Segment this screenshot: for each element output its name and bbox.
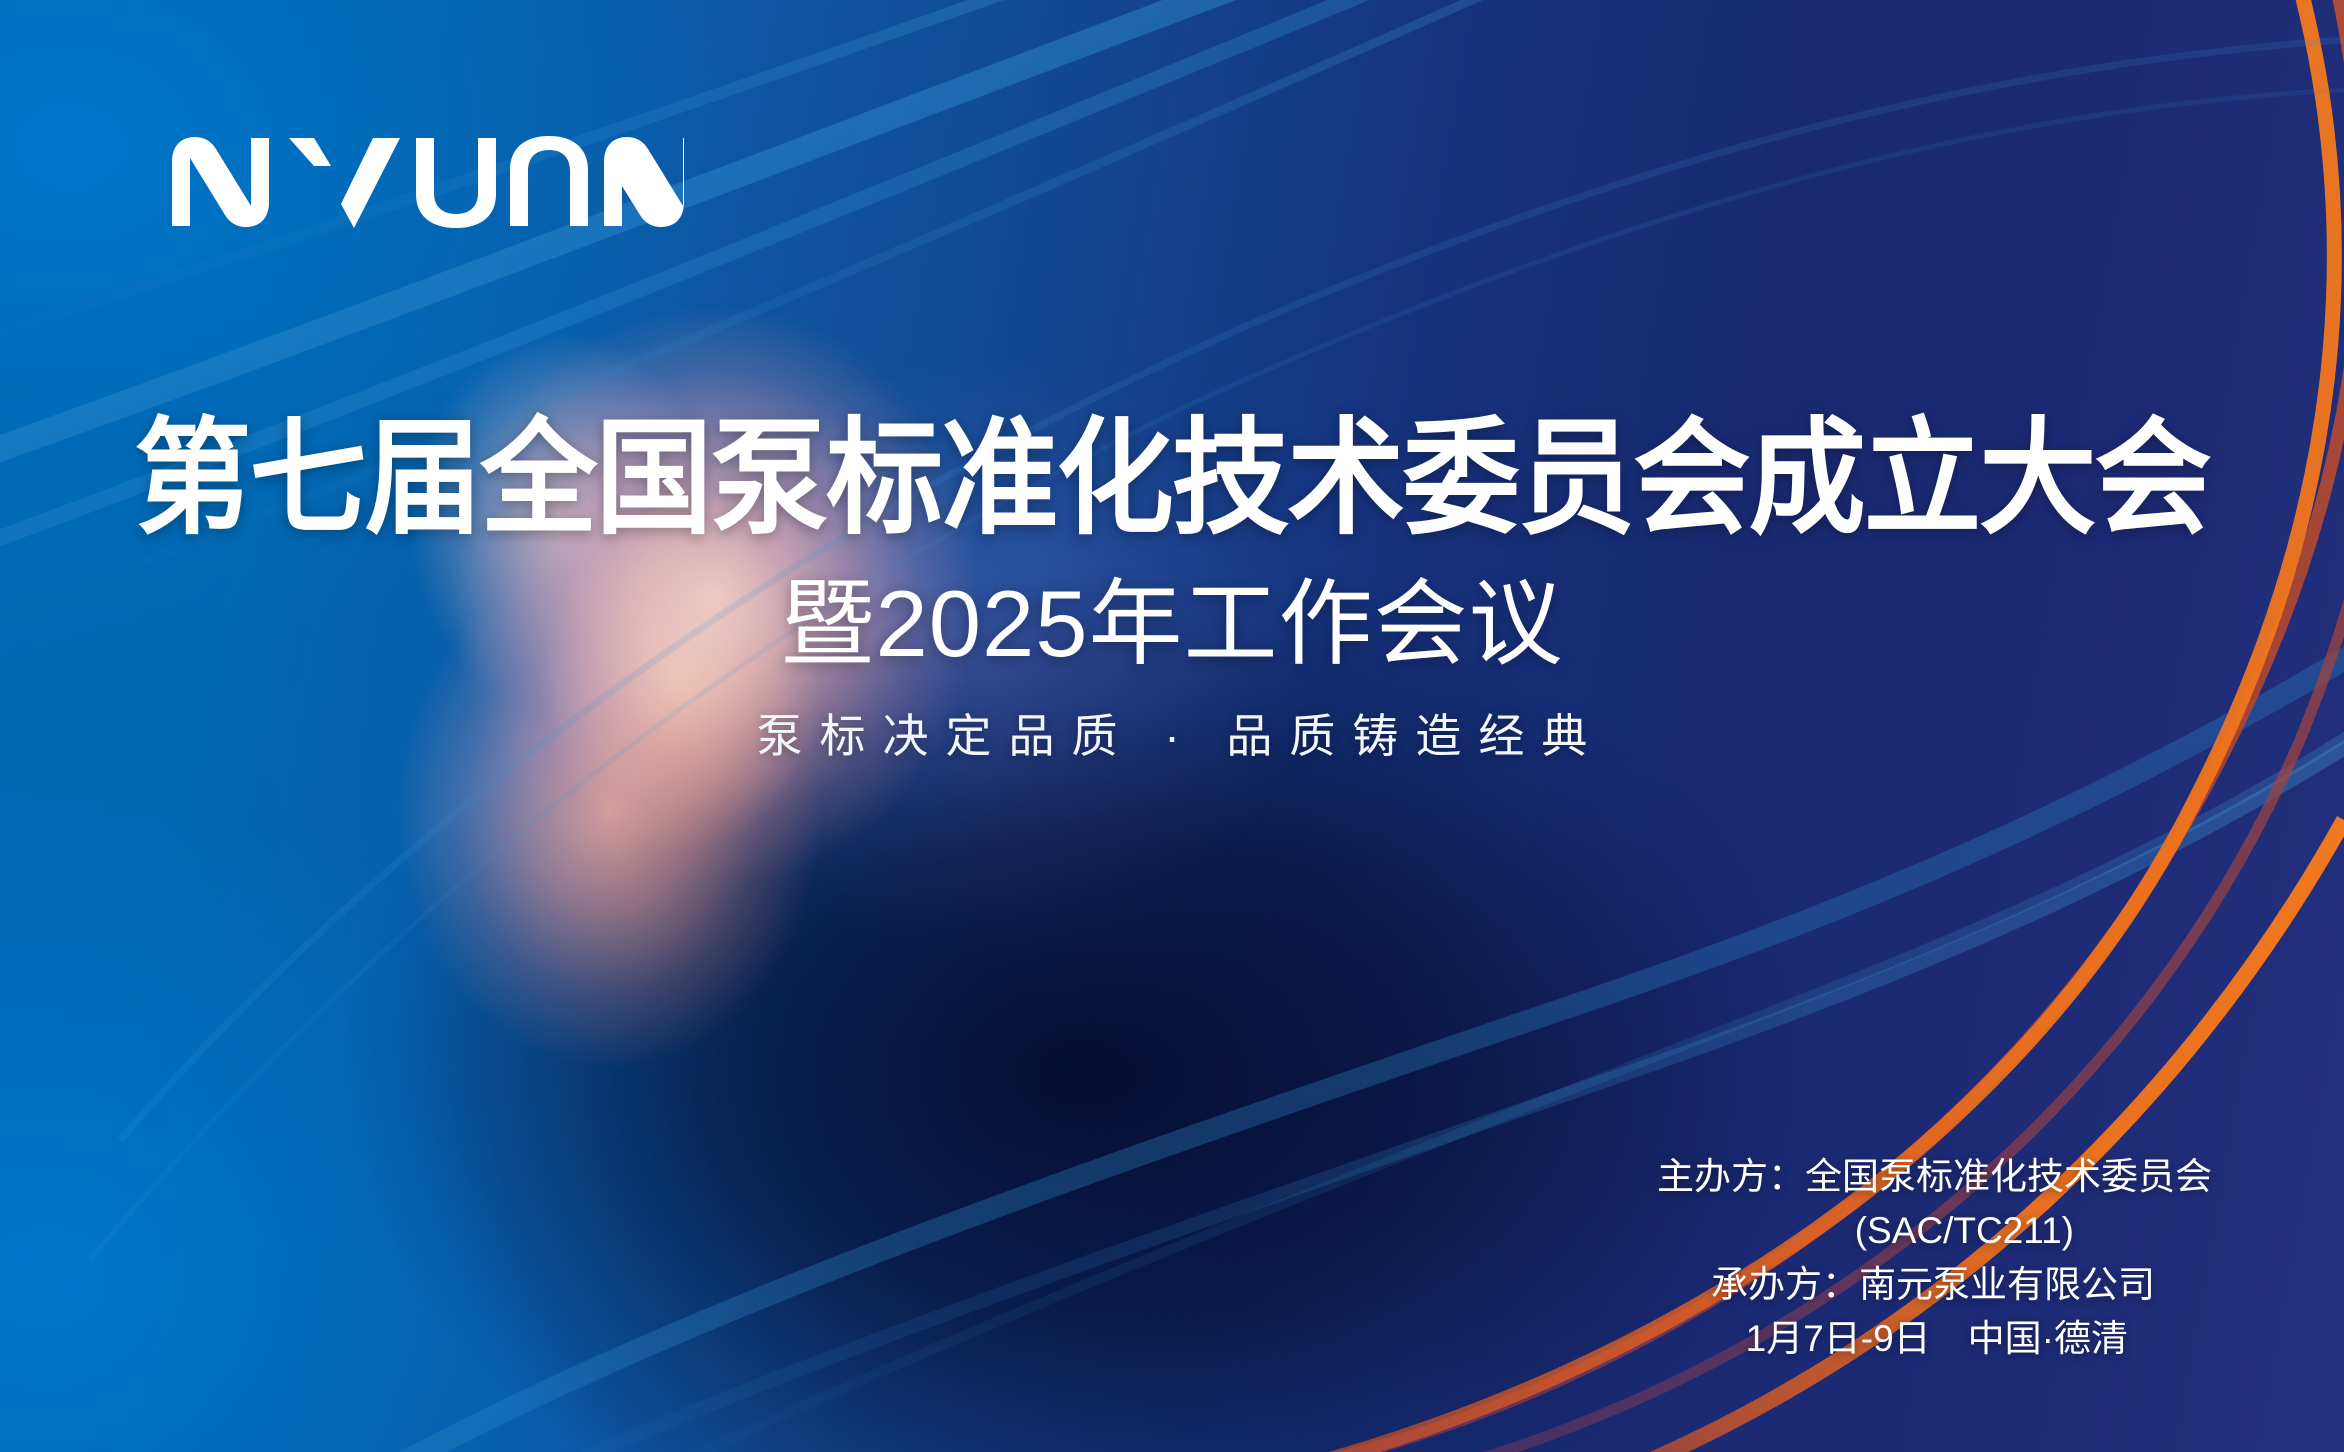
page-subtitle: 暨2025年工作会议 bbox=[0, 572, 2344, 675]
arc-light-blue-top-1 bbox=[0, 0, 1520, 470]
footer-organizer: 主办方：全国泵标准化技术委员会 bbox=[1657, 1150, 2212, 1204]
page-tagline: 泵标决定品质 · 品质铸造经典 bbox=[0, 709, 2344, 764]
nyuan-logo bbox=[168, 136, 688, 228]
page-title: 第七届全国泵标准化技术委员会成立大会 bbox=[82, 412, 2262, 546]
title-block: 第七届全国泵标准化技术委员会成立大会 暨2025年工作会议 泵标决定品质 · 品… bbox=[0, 412, 2344, 764]
footer-info-block: 主办方：全国泵标准化技术委员会 (SAC/TC211) 承办方：南元泵业有限公司… bbox=[1657, 1150, 2212, 1366]
footer-date-location: 1月7日-9日 中国·德清 bbox=[1657, 1312, 2212, 1366]
nyuan-logo-wordmark-icon bbox=[168, 136, 688, 228]
footer-co-organizer: 承办方：南元泵业有限公司 bbox=[1657, 1258, 2212, 1312]
footer-organizer-code: (SAC/TC211) bbox=[1657, 1204, 2212, 1258]
conference-poster: 第七届全国泵标准化技术委员会成立大会 暨2025年工作会议 泵标决定品质 · 品… bbox=[0, 0, 2344, 1452]
